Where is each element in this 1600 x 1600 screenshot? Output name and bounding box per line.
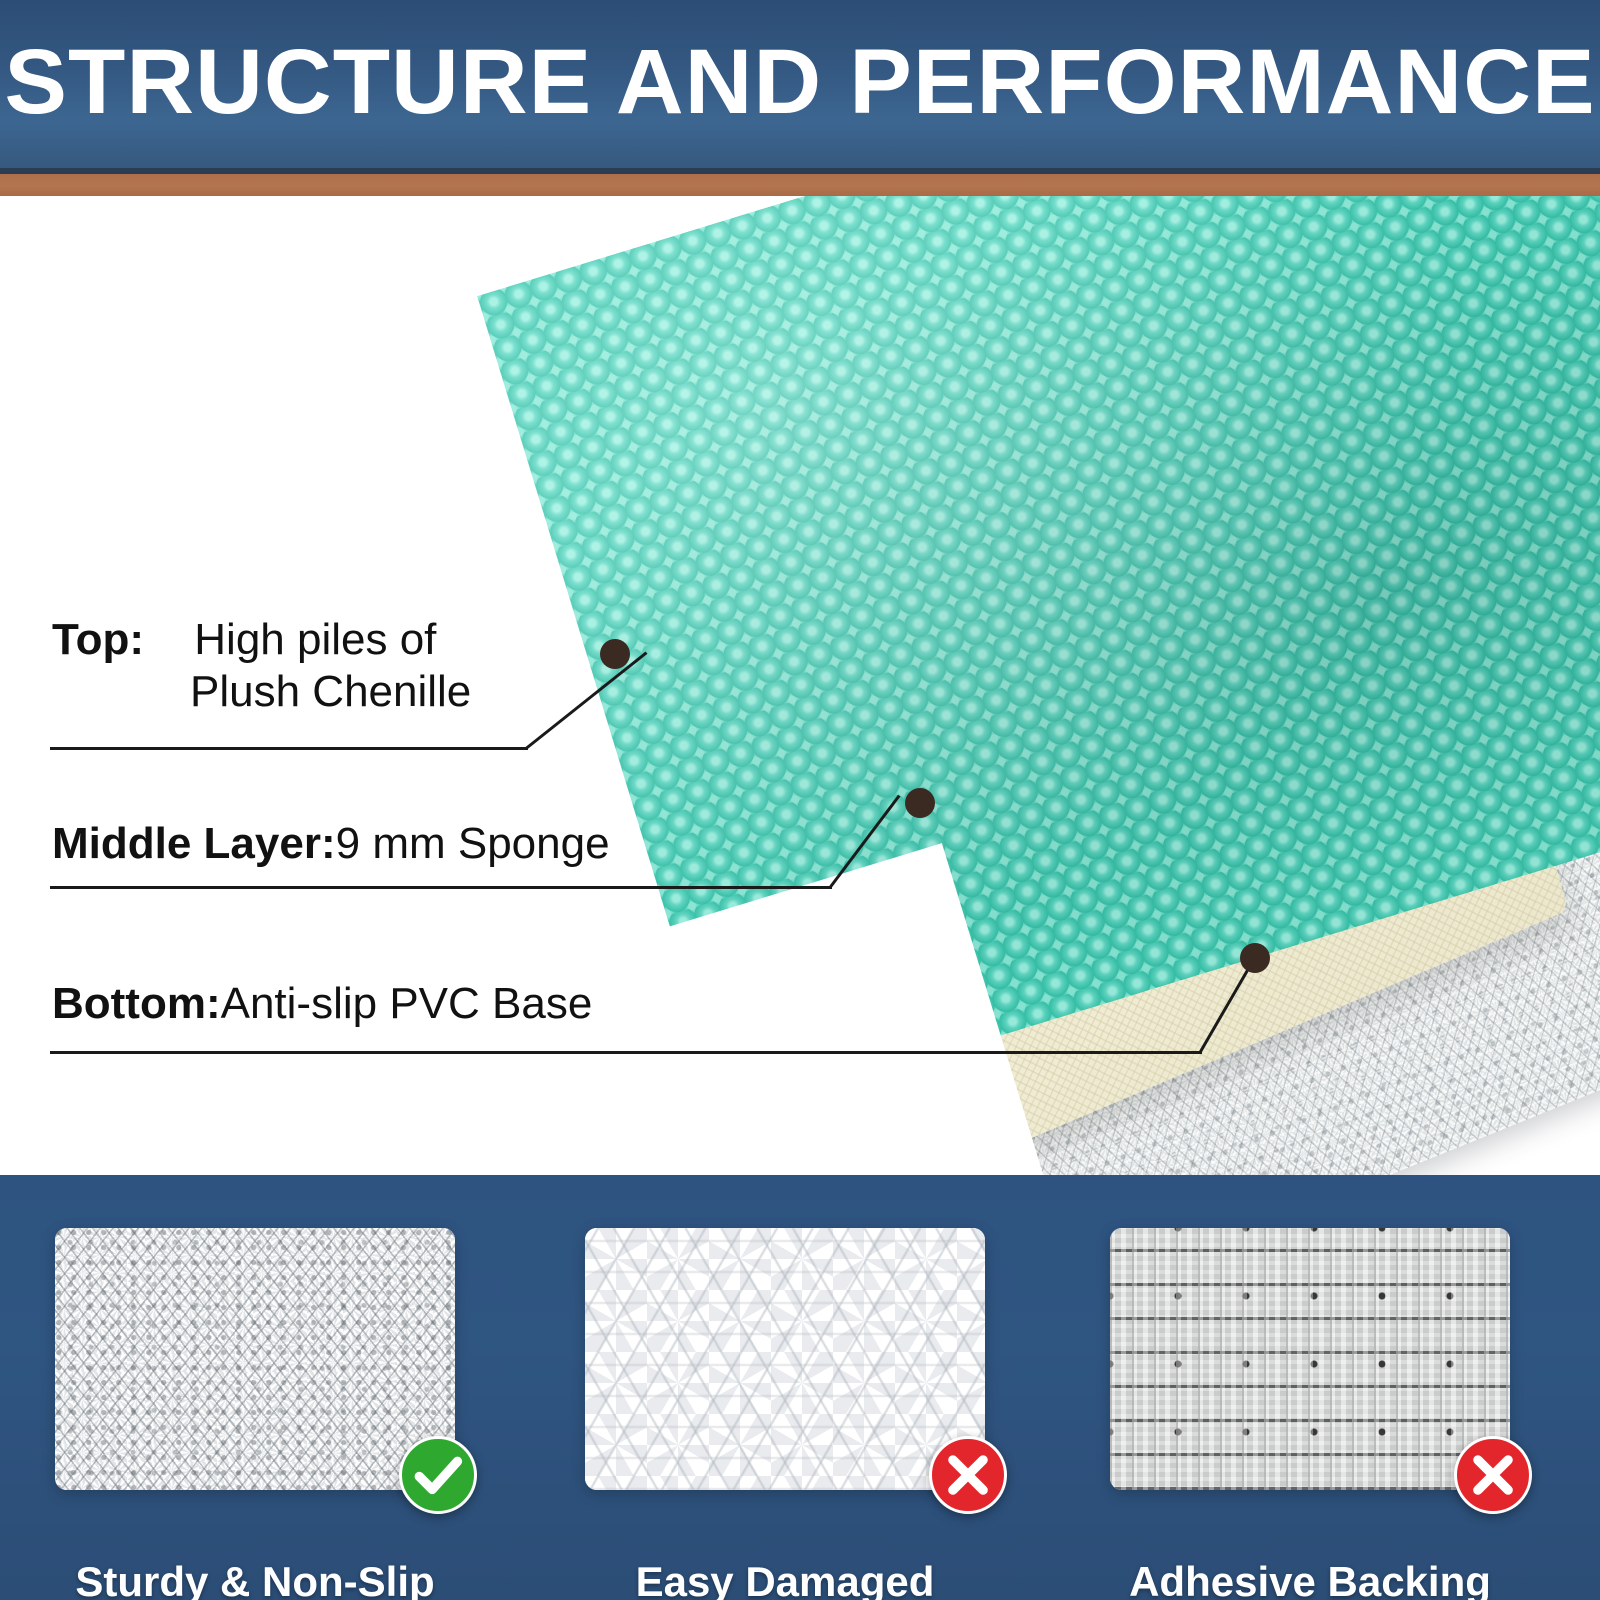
swatch-item-sturdy-non-slip[interactable]: Sturdy & Non-Slip (55, 1228, 455, 1490)
callout-top-value-line2: Plush Chenille (190, 667, 471, 716)
swatch-image-woven-grid (1110, 1228, 1510, 1490)
callout-layer: Top: High piles of Plush Chenille Middle… (0, 196, 1600, 1175)
swatch-image-quilted (585, 1228, 985, 1490)
callout-bottom-leader (1199, 958, 1256, 1053)
texture-open-lace-pvc-mesh (55, 1228, 455, 1490)
check-icon (399, 1436, 477, 1514)
infographic-page: STRUCTURE AND PERFORMANCE Top: High pile… (0, 0, 1600, 1600)
callout-middle-marker-dot (905, 788, 935, 818)
callout-top: Top: High piles of Plush Chenille (52, 614, 471, 718)
swatch-item-adhesive-backing[interactable]: Adhesive Backing Comes Off After Washing (1110, 1228, 1510, 1490)
callout-bottom-key: Bottom: (52, 979, 221, 1028)
callout-bottom-underline (50, 1051, 1202, 1054)
callout-top-leader (525, 651, 647, 749)
x-icon (929, 1436, 1007, 1514)
swatch-caption-2: Easy Damaged (545, 1558, 1025, 1600)
callout-top-key: Top: (52, 615, 144, 664)
texture-gray-woven-grid (1110, 1228, 1510, 1490)
swatch-caption-3-line1: Adhesive Backing (1070, 1558, 1550, 1600)
callout-top-underline (50, 747, 528, 750)
swatch-row: Sturdy & Non-Slip Easy Damaged (0, 1175, 1600, 1600)
callout-bottom: Bottom:Anti-slip PVC Base (52, 978, 592, 1030)
swatch-image-pvc-mesh (55, 1228, 455, 1490)
header-banner: STRUCTURE AND PERFORMANCE (0, 0, 1600, 168)
swatch-caption-3: Adhesive Backing Comes Off After Washing (1070, 1558, 1550, 1600)
callout-middle: Middle Layer:9 mm Sponge (52, 818, 610, 870)
callout-bottom-marker-dot (1240, 943, 1270, 973)
header-accent-bar (0, 174, 1600, 196)
swatch-caption-1: Sturdy & Non-Slip (15, 1558, 495, 1600)
callout-top-value-line1: High piles of (194, 615, 436, 664)
x-icon (1454, 1436, 1532, 1514)
swatch-item-easy-damaged[interactable]: Easy Damaged (585, 1228, 985, 1490)
swatch-caption-1-line1: Sturdy & Non-Slip (15, 1558, 495, 1600)
callout-bottom-value-line1: Anti-slip PVC Base (221, 979, 593, 1028)
swatch-caption-2-line1: Easy Damaged (545, 1558, 1025, 1600)
comparison-panel: Sturdy & Non-Slip Easy Damaged (0, 1175, 1600, 1600)
callout-middle-key: Middle Layer: (52, 819, 336, 868)
page-title: STRUCTURE AND PERFORMANCE (0, 34, 1600, 130)
callout-middle-underline (50, 886, 832, 889)
callout-middle-leader (829, 795, 901, 889)
callout-middle-value-line1: 9 mm Sponge (336, 819, 610, 868)
texture-quilted-diamond-emboss (585, 1228, 985, 1490)
callout-top-marker-dot (600, 639, 630, 669)
